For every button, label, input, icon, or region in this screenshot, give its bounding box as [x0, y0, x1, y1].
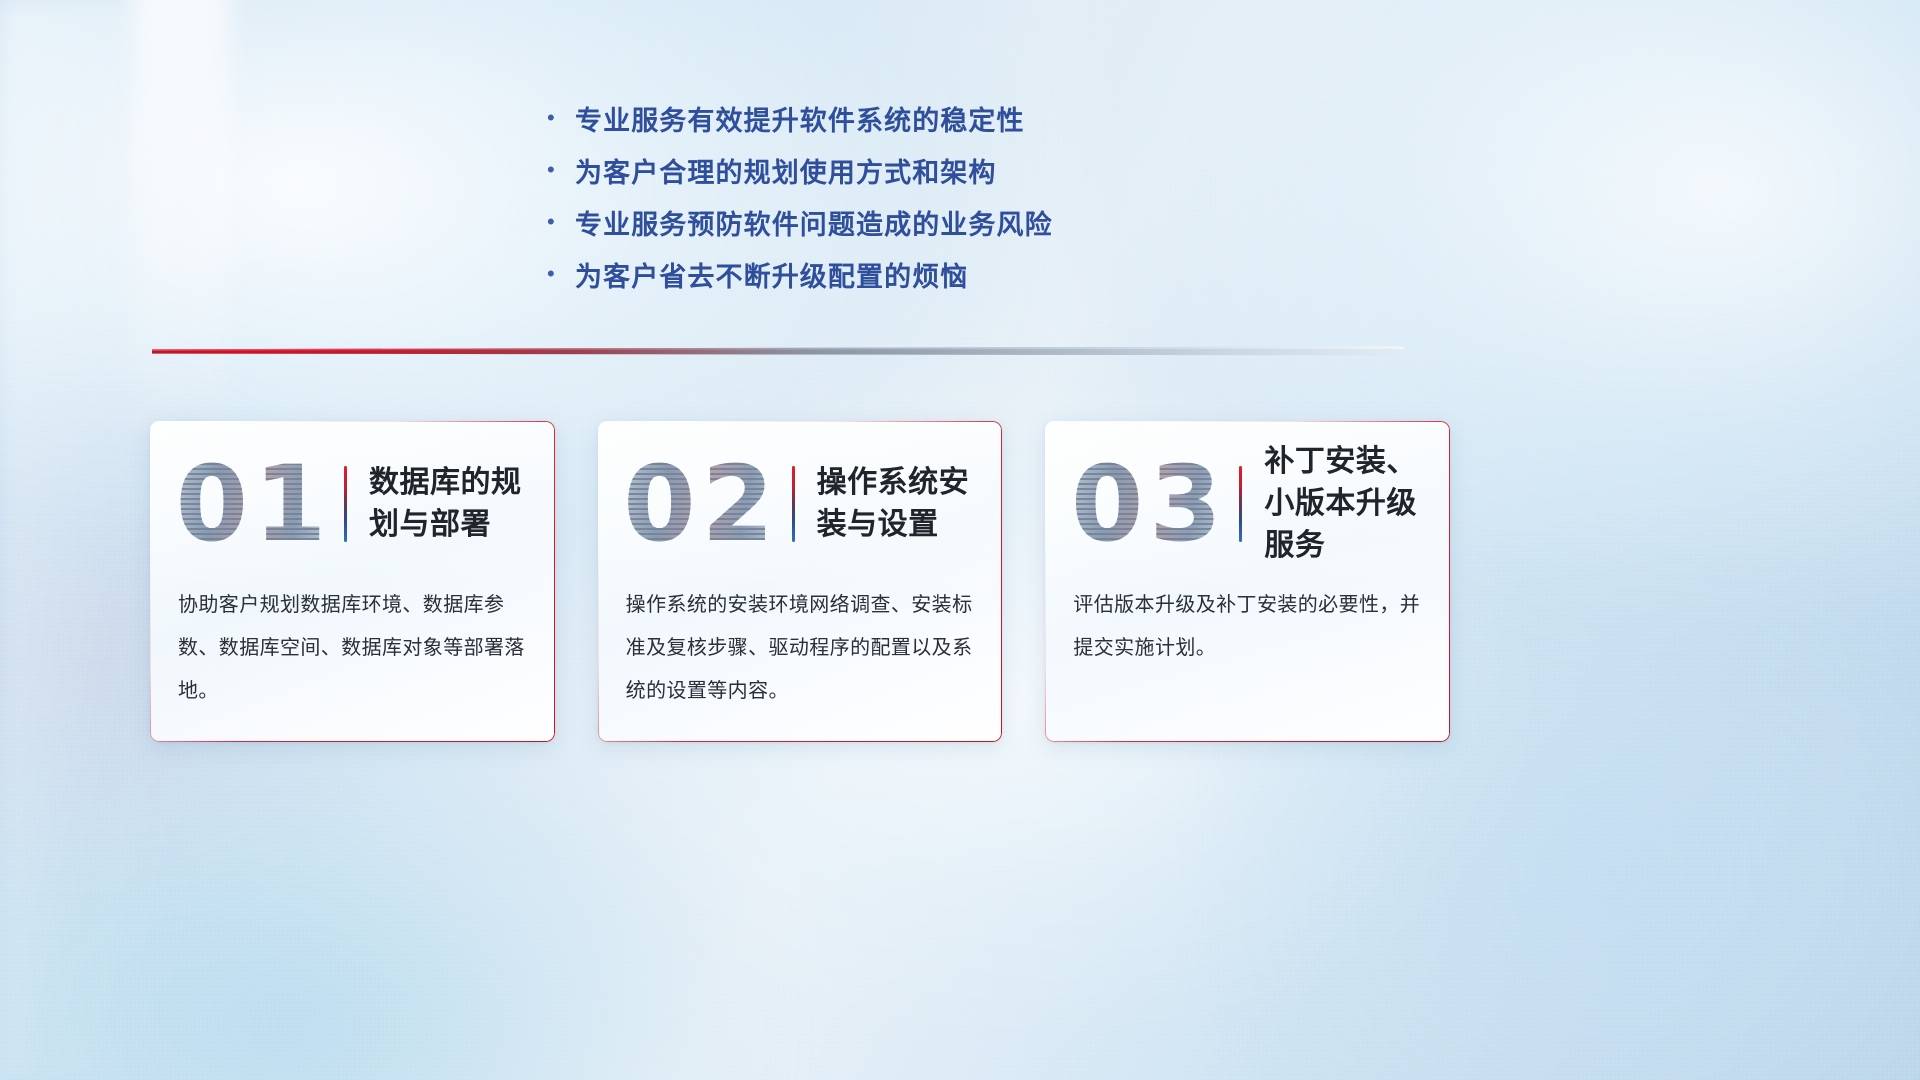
card-header: 02 操作系统安装与设置	[598, 443, 1003, 565]
divider-gradient-rule-icon	[152, 346, 1404, 360]
bullet-dot-icon: •	[545, 211, 575, 233]
bullet-text: 为客户省去不断升级配置的烦恼	[575, 255, 968, 294]
bullet-dot-icon: •	[545, 263, 575, 285]
service-card[interactable]: 03 补丁安装、小版本升级服务 评估版本升级及补丁安装的必要性，并提交实施计划。	[1045, 421, 1450, 742]
card-header: 01 数据库的规划与部署	[150, 443, 555, 565]
card-title: 补丁安装、小版本升级服务	[1264, 441, 1450, 567]
service-card[interactable]: 01 数据库的规划与部署 协助客户规划数据库环境、数据库参数、数据库空间、数据库…	[150, 421, 555, 742]
card-number: 02	[612, 448, 792, 560]
card-description: 操作系统的安装环境网络调查、安装标准及复核步骤、驱动程序的配置以及系统的设置等内…	[626, 583, 983, 712]
bullet-text: 专业服务有效提升软件系统的稳定性	[575, 99, 1025, 138]
card-number: 03	[1059, 448, 1239, 560]
card-header: 03 补丁安装、小版本升级服务	[1045, 443, 1450, 565]
list-item: • 专业服务有效提升软件系统的稳定性	[545, 92, 1305, 144]
bullet-dot-icon: •	[545, 159, 575, 181]
service-card[interactable]: 02 操作系统安装与设置 操作系统的安装环境网络调查、安装标准及复核步骤、驱动程…	[598, 421, 1003, 742]
bullet-text: 为客户合理的规划使用方式和架构	[575, 151, 997, 190]
list-item: • 为客户省去不断升级配置的烦恼	[545, 248, 1305, 300]
list-item: • 为客户合理的规划使用方式和架构	[545, 144, 1305, 196]
card-number: 01	[164, 448, 344, 560]
bullet-dot-icon: •	[545, 107, 575, 129]
card-accent-divider	[344, 466, 347, 542]
card-accent-divider	[1239, 466, 1242, 542]
bullet-text: 专业服务预防软件问题造成的业务风险	[575, 203, 1053, 242]
card-accent-divider	[792, 466, 795, 542]
service-card-group: 01 数据库的规划与部署 协助客户规划数据库环境、数据库参数、数据库空间、数据库…	[150, 421, 1450, 742]
section-divider	[152, 346, 1404, 360]
list-item: • 专业服务预防软件问题造成的业务风险	[545, 196, 1305, 248]
card-title: 数据库的规划与部署	[369, 462, 555, 546]
card-title: 操作系统安装与设置	[817, 462, 1003, 546]
card-description: 协助客户规划数据库环境、数据库参数、数据库空间、数据库对象等部署落地。	[178, 583, 535, 712]
benefits-bullet-list: • 专业服务有效提升软件系统的稳定性 • 为客户合理的规划使用方式和架构 • 专…	[545, 92, 1305, 300]
card-description: 评估版本升级及补丁安装的必要性，并提交实施计划。	[1073, 583, 1430, 669]
